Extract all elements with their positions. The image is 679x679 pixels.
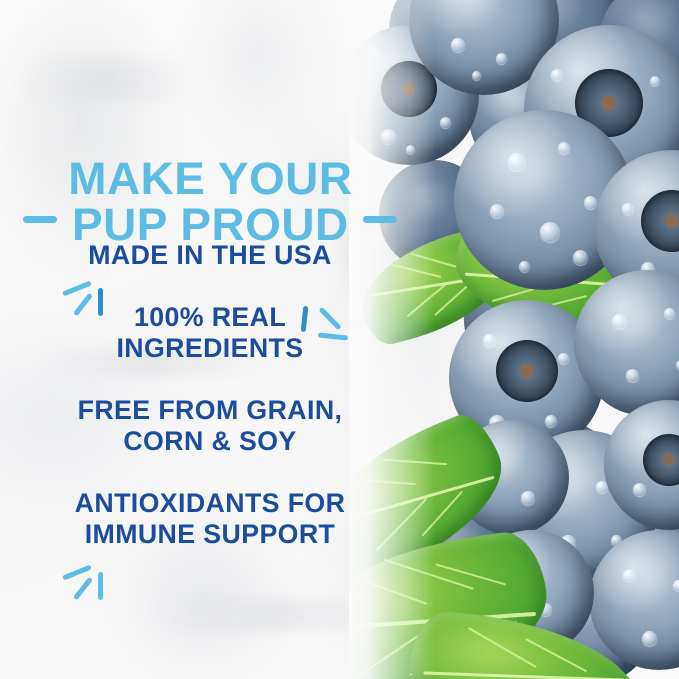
water-droplet [664, 308, 675, 319]
water-droplet [622, 203, 634, 215]
page-title: MAKE YOUR PUP PROUD [68, 156, 352, 248]
claim-line: IMMUNE SUPPORT [2, 519, 418, 550]
water-droplet [626, 369, 639, 382]
claim-line: CORN & SOY [2, 426, 418, 457]
sparkle-ray [318, 307, 341, 331]
sparkle-icon-bottom-left [62, 560, 114, 608]
water-droplet [508, 153, 526, 171]
water-droplet [623, 569, 636, 582]
water-droplet [440, 117, 451, 128]
berry-calyx [496, 340, 558, 402]
claim-antioxidants: ANTIOXIDANTS FOR IMMUNE SUPPORT [2, 488, 418, 550]
claim-line: MADE IN THE USA [2, 240, 418, 271]
water-droplet [676, 360, 679, 370]
sparkle-icon-right [300, 302, 356, 350]
claim-line: FREE FROM GRAIN, [2, 395, 418, 426]
leaf-vein [435, 563, 506, 585]
water-droplet [650, 76, 660, 86]
berry-calyx [643, 434, 679, 486]
sparkle-icon-top-left [62, 276, 114, 322]
water-droplet [558, 353, 569, 364]
water-droplet [612, 314, 627, 329]
water-droplet [558, 142, 570, 154]
claim-made-in-usa: MADE IN THE USA [2, 240, 418, 271]
water-droplet [472, 71, 481, 80]
sparkle-ray [301, 306, 309, 332]
claim-free-from: FREE FROM GRAIN, CORN & SOY [2, 395, 418, 457]
sparkle-ray [73, 293, 93, 317]
product-claims-poster: MAKE YOUR PUP PROUD MADE IN THE USA 100%… [0, 0, 679, 679]
dash-right-icon [363, 216, 397, 223]
water-droplet [551, 69, 563, 81]
claim-line: ANTIOXIDANTS FOR [2, 488, 418, 519]
water-droplet [521, 491, 535, 505]
headline-line-1: MAKE YOUR [68, 156, 352, 202]
leaf-midrib [423, 672, 625, 679]
dash-left-icon [23, 216, 57, 223]
water-droplet [451, 38, 465, 52]
water-droplet [496, 53, 507, 64]
water-droplet [490, 204, 504, 218]
leaf-vein [468, 627, 537, 668]
water-droplet [483, 334, 496, 347]
water-droplet [519, 261, 530, 272]
berry-calyx [641, 190, 679, 252]
sparkle-ray [318, 332, 348, 340]
water-droplet [573, 250, 588, 265]
sparkle-ray [98, 572, 103, 600]
claims-content: MAKE YOUR PUP PROUD MADE IN THE USA 100%… [0, 0, 420, 679]
water-droplet [584, 196, 597, 209]
water-droplet [642, 631, 657, 646]
water-droplet [545, 415, 557, 427]
sparkle-ray [98, 288, 103, 316]
water-droplet [540, 222, 560, 242]
sparkle-ray [73, 577, 93, 601]
water-droplet [673, 580, 679, 591]
water-droplet [633, 483, 646, 496]
